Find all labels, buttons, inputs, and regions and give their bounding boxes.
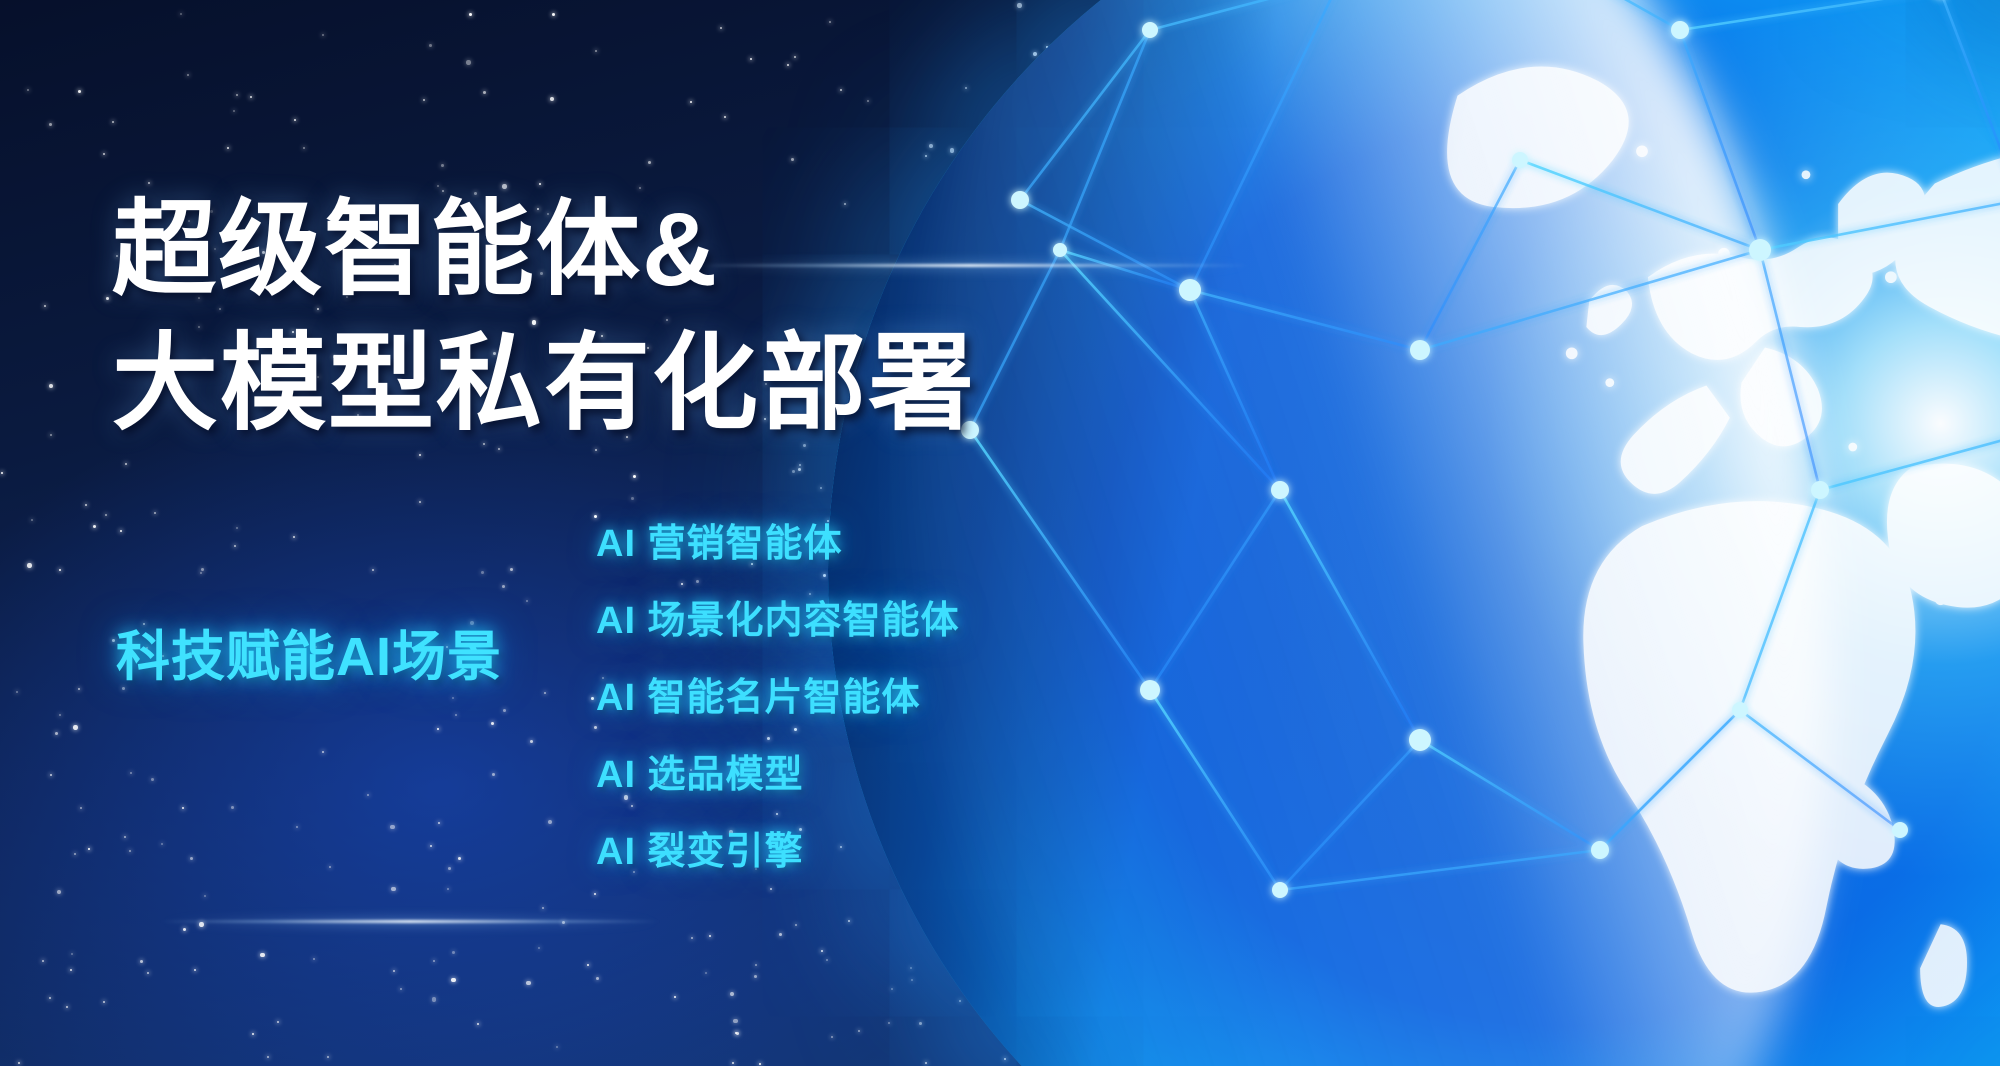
- starfield-icon: [0, 0, 2000, 1066]
- ai-feature-list: AI 营销智能体 AI 场景化内容智能体 AI 智能名片智能体 AI 选品模型 …: [596, 512, 960, 875]
- globe-halo-icon: [780, 0, 2000, 1066]
- globe-rim-light: [836, 0, 1904, 1066]
- list-item: AI 裂变引擎: [596, 820, 960, 875]
- world-continents-icon: [828, 0, 2000, 1066]
- list-item: AI 智能名片智能体: [596, 666, 960, 721]
- lens-flare-streak-icon: [160, 920, 660, 923]
- list-item: AI 营销智能体: [596, 512, 960, 567]
- globe-atmosphere-icon: [780, 0, 2000, 1066]
- page-title: 超级智能体& 大模型私有化部署: [112, 184, 976, 453]
- globe-network-icon: [780, 0, 2000, 1066]
- globe-shadow: [828, 0, 2000, 1066]
- tagline: 科技赋能AI场景: [116, 612, 502, 691]
- list-item: AI 场景化内容智能体: [596, 589, 960, 644]
- headline-line-2: 大模型私有化部署: [112, 317, 976, 453]
- banner-canvas: 超级智能体& 大模型私有化部署 科技赋能AI场景 AI 营销智能体 AI 场景化…: [0, 0, 2000, 1066]
- headline-line-1: 超级智能体&: [112, 184, 976, 317]
- list-item: AI 选品模型: [596, 743, 960, 798]
- globe-sphere: [828, 0, 2000, 1066]
